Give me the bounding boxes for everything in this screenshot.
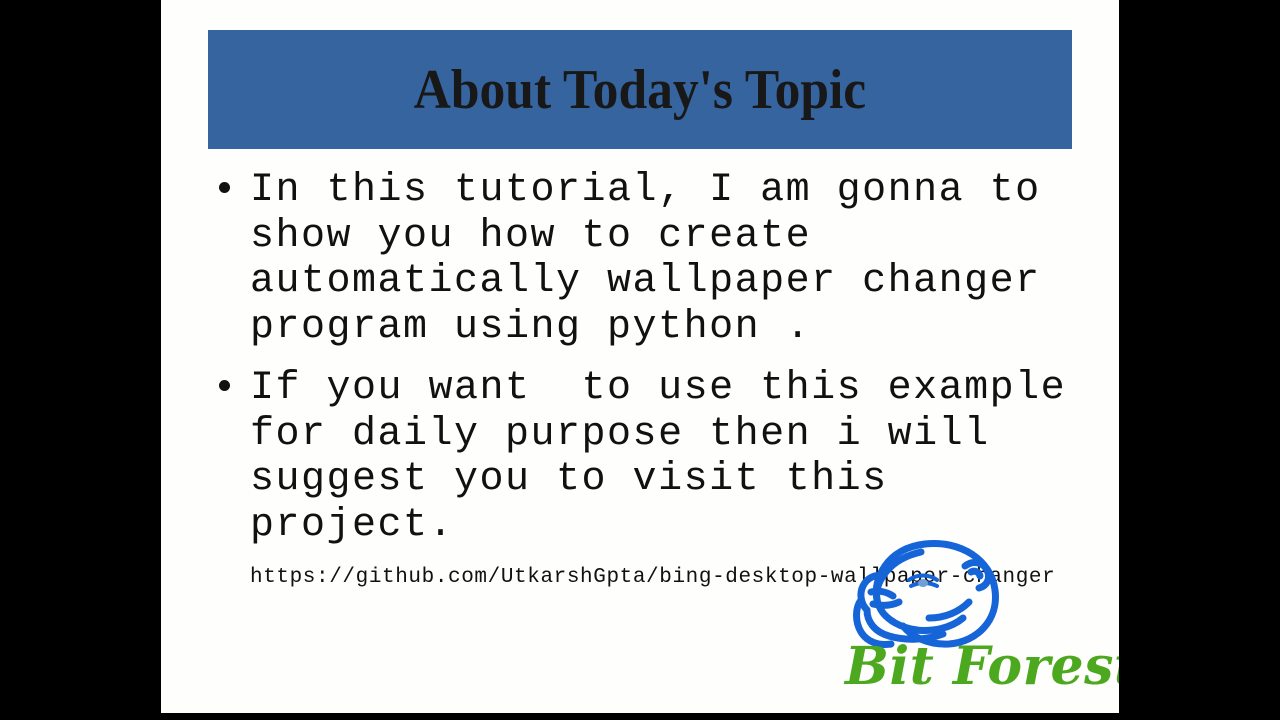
list-item: If you want to use this example for dail… xyxy=(213,366,1103,548)
bullet-text: If you want to use this example for dail… xyxy=(250,366,1103,548)
logo-wordmark: Bit Forest xyxy=(845,636,1107,698)
round-bullet-icon xyxy=(219,182,230,193)
lion-head-icon xyxy=(853,538,1023,650)
page-title: About Today's Topic xyxy=(414,62,866,118)
slide-body: In this tutorial, I am gonna to show you… xyxy=(213,168,1103,592)
round-bullet-icon xyxy=(219,380,230,391)
title-banner: About Today's Topic xyxy=(208,30,1072,149)
presentation-slide: About Today's Topic In this tutorial, I … xyxy=(161,0,1119,713)
list-item: In this tutorial, I am gonna to show you… xyxy=(213,168,1103,350)
logo-wordmark-text: Bit Forest xyxy=(845,636,1119,697)
video-letterbox-frame: About Today's Topic In this tutorial, I … xyxy=(0,0,1280,720)
bullet-text: In this tutorial, I am gonna to show you… xyxy=(250,168,1103,350)
bit-forest-logo: Bit Forest xyxy=(845,538,1107,698)
